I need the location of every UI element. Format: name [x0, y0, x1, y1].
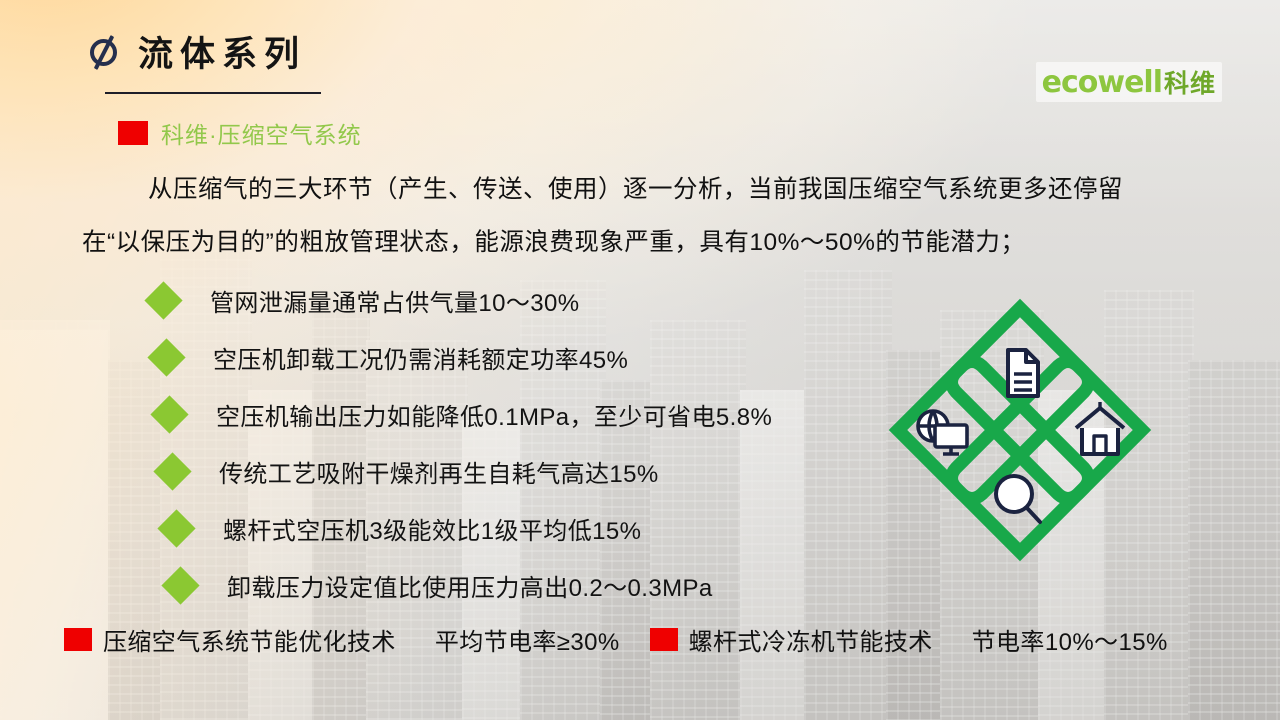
section-subtitle-label: 科维·压缩空气系统	[161, 116, 362, 150]
page-title: 流体系列	[138, 26, 306, 77]
diamond-bullet-icon	[153, 452, 191, 490]
diamond-bullet-icon	[161, 566, 199, 604]
list-item: 空压机卸载工况仍需消耗额定功率45%	[153, 329, 772, 386]
list-item-label: 传统工艺吸附干燥剂再生自耗气高达15%	[219, 454, 659, 489]
list-item-label: 空压机输出压力如能降低0.1MPa，至少可省电5.8%	[216, 397, 772, 432]
document-icon	[1008, 350, 1038, 396]
footer-item-value-1: 平均节电率≥30%	[435, 622, 620, 657]
diamond-bullet-icon	[157, 509, 195, 547]
list-item: 螺杆式空压机3级能效比1级平均低15%	[163, 500, 772, 557]
slide-canvas: 流体系列 ecowell 科维 科维·压缩空气系统 从压缩气的三大环节（产生、传…	[0, 0, 1280, 720]
footer-bar: 压缩空气系统节能优化技术 平均节电率≥30% 螺杆式冷冻机节能技术 节电率10%…	[64, 622, 1168, 657]
four-petal-clover-diagram	[888, 298, 1152, 562]
diamond-bullet-icon	[147, 338, 185, 376]
list-item: 空压机输出压力如能降低0.1MPa，至少可省电5.8%	[156, 386, 772, 443]
bullet-list: 管网泄漏量通常占供气量10～30% 空压机卸载工况仍需消耗额定功率45% 空压机…	[150, 272, 772, 614]
list-item-label: 卸载压力设定值比使用压力高出0.2～0.3MPa	[227, 568, 713, 603]
red-square-bullet-icon	[64, 628, 92, 651]
diamond-bullet-icon	[144, 281, 182, 319]
list-item-label: 空压机卸载工况仍需消耗额定功率45%	[213, 340, 628, 375]
footer-item-label-2: 螺杆式冷冻机节能技术	[689, 622, 933, 657]
intro-paragraph: 从压缩气的三大环节（产生、传送、使用）逐一分析，当前我国压缩空气系统更多还停留 …	[82, 163, 1212, 269]
footer-item-value-2: 节电率10%～15%	[972, 622, 1168, 657]
slide-header: 流体系列	[88, 26, 306, 77]
diamond-bullet-icon	[150, 395, 188, 433]
list-item: 卸载压力设定值比使用压力高出0.2～0.3MPa	[167, 557, 772, 614]
list-item-label: 管网泄漏量通常占供气量10～30%	[210, 283, 580, 318]
list-item: 传统工艺吸附干燥剂再生自耗气高达15%	[159, 443, 772, 500]
diameter-symbol-icon	[88, 35, 122, 69]
logo-chinese-name: 科维	[1164, 64, 1216, 100]
title-underline-divider	[105, 92, 321, 94]
list-item-label: 螺杆式空压机3级能效比1级平均低15%	[223, 511, 641, 546]
list-item: 管网泄漏量通常占供气量10～30%	[150, 272, 772, 329]
red-square-bullet-icon	[118, 121, 148, 145]
globe-monitor-icon	[918, 411, 967, 454]
paragraph-line-1: 从压缩气的三大环节（产生、传送、使用）逐一分析，当前我国压缩空气系统更多还停留	[82, 163, 1212, 216]
footer-item-label-1: 压缩空气系统节能优化技术	[103, 622, 396, 657]
paragraph-line-2: 在“以保压为目的”的粗放管理状态，能源浪费现象严重，具有10%～50%的节能潜力…	[82, 216, 1212, 269]
logo-wordmark: ecowell	[1042, 65, 1162, 100]
magnifier-icon	[996, 476, 1040, 522]
section-subtitle: 科维·压缩空气系统	[118, 116, 362, 150]
red-square-bullet-icon	[650, 628, 678, 651]
brand-logo: ecowell 科维	[1036, 62, 1222, 102]
